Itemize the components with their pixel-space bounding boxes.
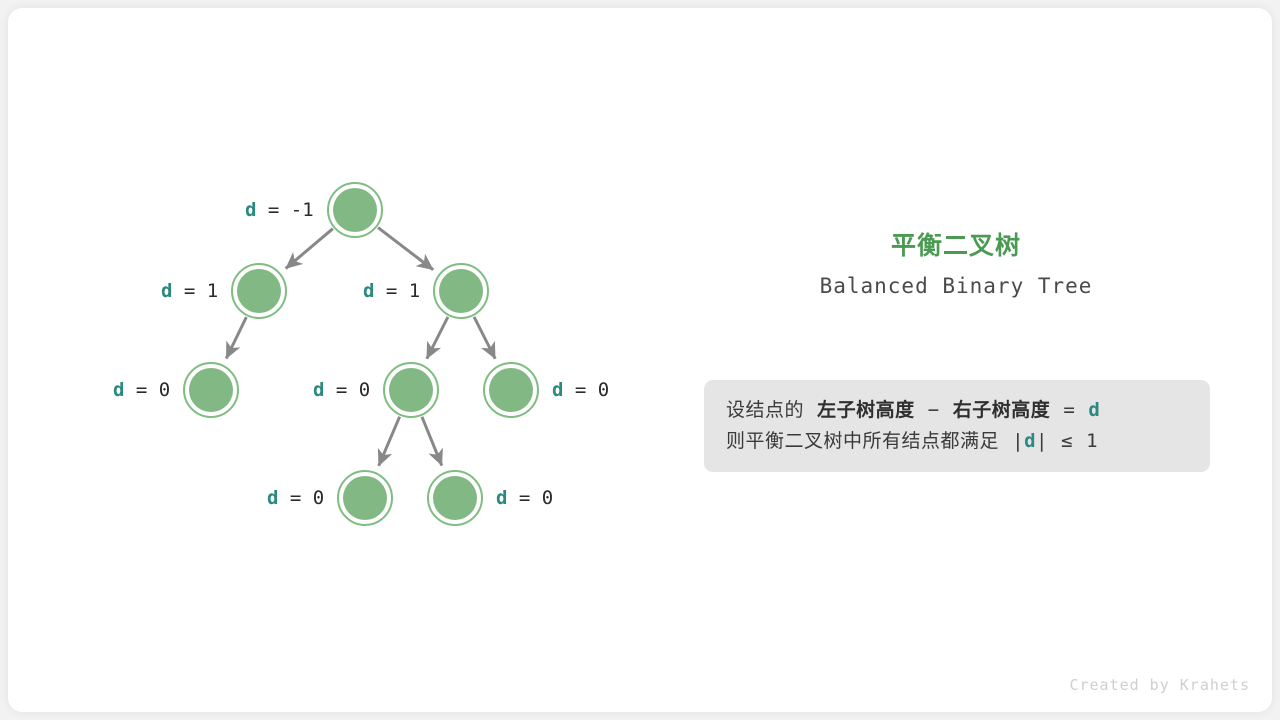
node-balance-label: d = -1 bbox=[245, 199, 314, 221]
balance-factor-symbol: d bbox=[161, 280, 172, 302]
panel: 平衡二叉树 Balanced Binary Tree bbox=[696, 230, 1216, 298]
page-subtitle: Balanced Binary Tree bbox=[696, 274, 1216, 298]
balance-factor-value: 0 bbox=[159, 379, 170, 401]
watermark: Created by Krahets bbox=[1069, 676, 1250, 694]
tree-node[interactable] bbox=[489, 368, 533, 412]
balance-factor-value: -1 bbox=[291, 199, 314, 221]
equals-operator: = bbox=[507, 487, 541, 509]
tree-node[interactable] bbox=[333, 188, 377, 232]
abs-bar-close: | bbox=[1036, 430, 1048, 452]
node-balance-label: d = 0 bbox=[113, 379, 170, 401]
balance-factor-value: 0 bbox=[542, 487, 553, 509]
tree-edges bbox=[226, 228, 495, 466]
tree-edge bbox=[286, 229, 333, 269]
equals-operator: = bbox=[256, 199, 290, 221]
tree-node[interactable] bbox=[433, 476, 477, 520]
tree-edge bbox=[226, 317, 246, 358]
tree-edge bbox=[378, 228, 433, 270]
balance-factor-value: 1 bbox=[207, 280, 218, 302]
equals-operator: = bbox=[124, 379, 158, 401]
balance-factor-symbol: d bbox=[267, 487, 278, 509]
balance-factor-symbol: d bbox=[313, 379, 324, 401]
page-title: 平衡二叉树 bbox=[696, 230, 1216, 262]
tree-edge bbox=[427, 317, 448, 359]
equals-operator: = bbox=[1063, 399, 1075, 421]
balance-factor-symbol: d bbox=[245, 199, 256, 221]
tree-node[interactable] bbox=[237, 269, 281, 313]
node-balance-label: d = 0 bbox=[267, 487, 324, 509]
tree-edge bbox=[379, 417, 400, 466]
node-balance-label: d = 1 bbox=[363, 280, 420, 302]
tree-node[interactable] bbox=[189, 368, 233, 412]
balance-factor-value: 0 bbox=[359, 379, 370, 401]
diagram-card: d = -1d = 1d = 1d = 0d = 0d = 0d = 0d = … bbox=[8, 8, 1272, 712]
balance-factor-symbol: d bbox=[552, 379, 563, 401]
balance-factor-symbol: d bbox=[113, 379, 124, 401]
equals-operator: = bbox=[374, 280, 408, 302]
definition-prefix: 设结点的 bbox=[726, 399, 804, 421]
balance-factor-value: 0 bbox=[598, 379, 609, 401]
definition-line-1: 设结点的 左子树高度 − 右子树高度 = d bbox=[726, 395, 1188, 426]
equals-operator: = bbox=[563, 379, 597, 401]
node-balance-label: d = 0 bbox=[496, 487, 553, 509]
minus-operator: − bbox=[928, 399, 940, 421]
equals-operator: = bbox=[324, 379, 358, 401]
tree-nodes bbox=[184, 183, 538, 525]
balance-factor-symbol: d bbox=[496, 487, 507, 509]
balance-factor-value: 1 bbox=[409, 280, 420, 302]
tree-node[interactable] bbox=[389, 368, 433, 412]
node-balance-label: d = 0 bbox=[552, 379, 609, 401]
definition-line-2: 则平衡二叉树中所有结点都满足 |d| ≤ 1 bbox=[726, 426, 1188, 457]
tree-node[interactable] bbox=[343, 476, 387, 520]
balance-factor-symbol-abs: d bbox=[1024, 430, 1036, 452]
tree-edge bbox=[474, 317, 495, 359]
definition-box: 设结点的 左子树高度 − 右子树高度 = d 则平衡二叉树中所有结点都满足 |d… bbox=[704, 380, 1210, 472]
condition-value: 1 bbox=[1086, 430, 1098, 452]
balance-factor-symbol: d bbox=[1088, 399, 1100, 421]
balance-factor-value: 0 bbox=[313, 487, 324, 509]
abs-bar-open: | bbox=[1012, 430, 1024, 452]
tree-node[interactable] bbox=[439, 269, 483, 313]
balance-factor-symbol: d bbox=[363, 280, 374, 302]
term-left-subtree-height: 左子树高度 bbox=[817, 399, 915, 421]
term-right-subtree-height: 右子树高度 bbox=[953, 399, 1051, 421]
binary-tree-graphic bbox=[8, 8, 1272, 712]
node-balance-label: d = 0 bbox=[313, 379, 370, 401]
node-balance-label: d = 1 bbox=[161, 280, 218, 302]
condition-prefix: 则平衡二叉树中所有结点都满足 bbox=[726, 430, 999, 452]
tree-edge bbox=[422, 417, 442, 466]
equals-operator: = bbox=[172, 280, 206, 302]
equals-operator: = bbox=[278, 487, 312, 509]
less-equal-operator: ≤ bbox=[1061, 430, 1073, 452]
